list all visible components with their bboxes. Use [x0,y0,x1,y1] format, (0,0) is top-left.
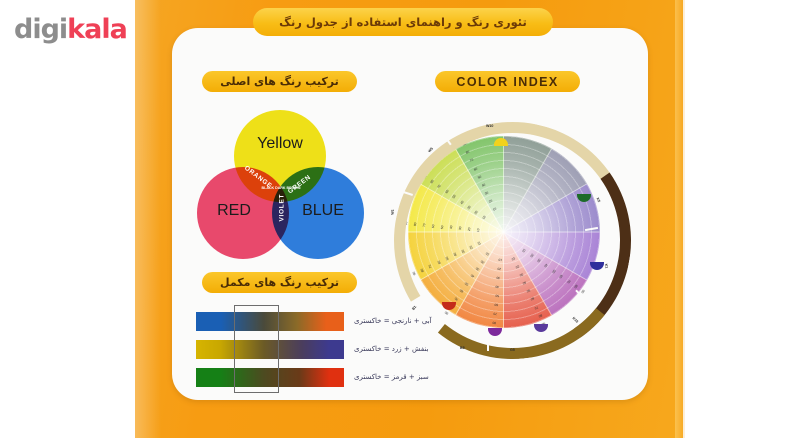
header-banner-text: تئوری رنگ و راهنمای استفاده از جدول رنگ [279,15,527,29]
logo-text-secondary: kala [67,14,127,45]
arc-label: G5 [510,348,515,352]
arc-label: W10 [486,124,493,128]
complementary-colors-label: ترکیب رنگ های مکمل [220,276,339,289]
complementary-color-bars: آبی + نارنجی = خاکستری بنفش + زرد = خاکس… [196,312,371,388]
color-index-pill: COLOR INDEX [435,71,580,92]
venn-label-blue: BLUE [291,202,355,220]
primary-colors-pill: ترکیب رنگ های اصلی [202,71,357,92]
arc-swatch-yellow [494,138,508,146]
logo-text-primary: digi [14,14,67,45]
venn-label-red: RED [203,202,265,220]
arc-brown-scale [382,110,642,370]
color-index-label: COLOR INDEX [456,75,558,89]
complementary-colors-pill: ترکیب رنگ های مکمل [202,272,357,293]
arc-label: W1 [391,209,395,215]
arc-label: B5 [460,346,465,350]
arc-divider [487,338,489,351]
header-banner: تئوری رنگ و راهنمای استفاده از جدول رنگ [253,8,553,36]
background-gloss [135,0,161,438]
primary-color-venn-diagram: Yellow RED BLUE ORANGE GREEN VIOLET BLAC… [193,110,368,260]
primary-colors-label: ترکیب رنگ های اصلی [220,75,339,88]
color-index-wheel: 1020304050607080901020304050607080901020… [382,106,632,391]
screenshot-root: digikala www.digikala.com تئوری رنگ و را… [0,0,800,438]
arc-label: K1 [604,263,609,268]
neutral-gray-highlight-box [234,305,279,393]
venn-label-violet: VIOLET [279,192,286,222]
background-edge-highlight [675,0,685,438]
venn-label-center: BLACK DARK BROWN [257,186,305,191]
venn-label-yellow: Yellow [250,135,310,153]
digikala-logo: digikala [14,14,127,45]
